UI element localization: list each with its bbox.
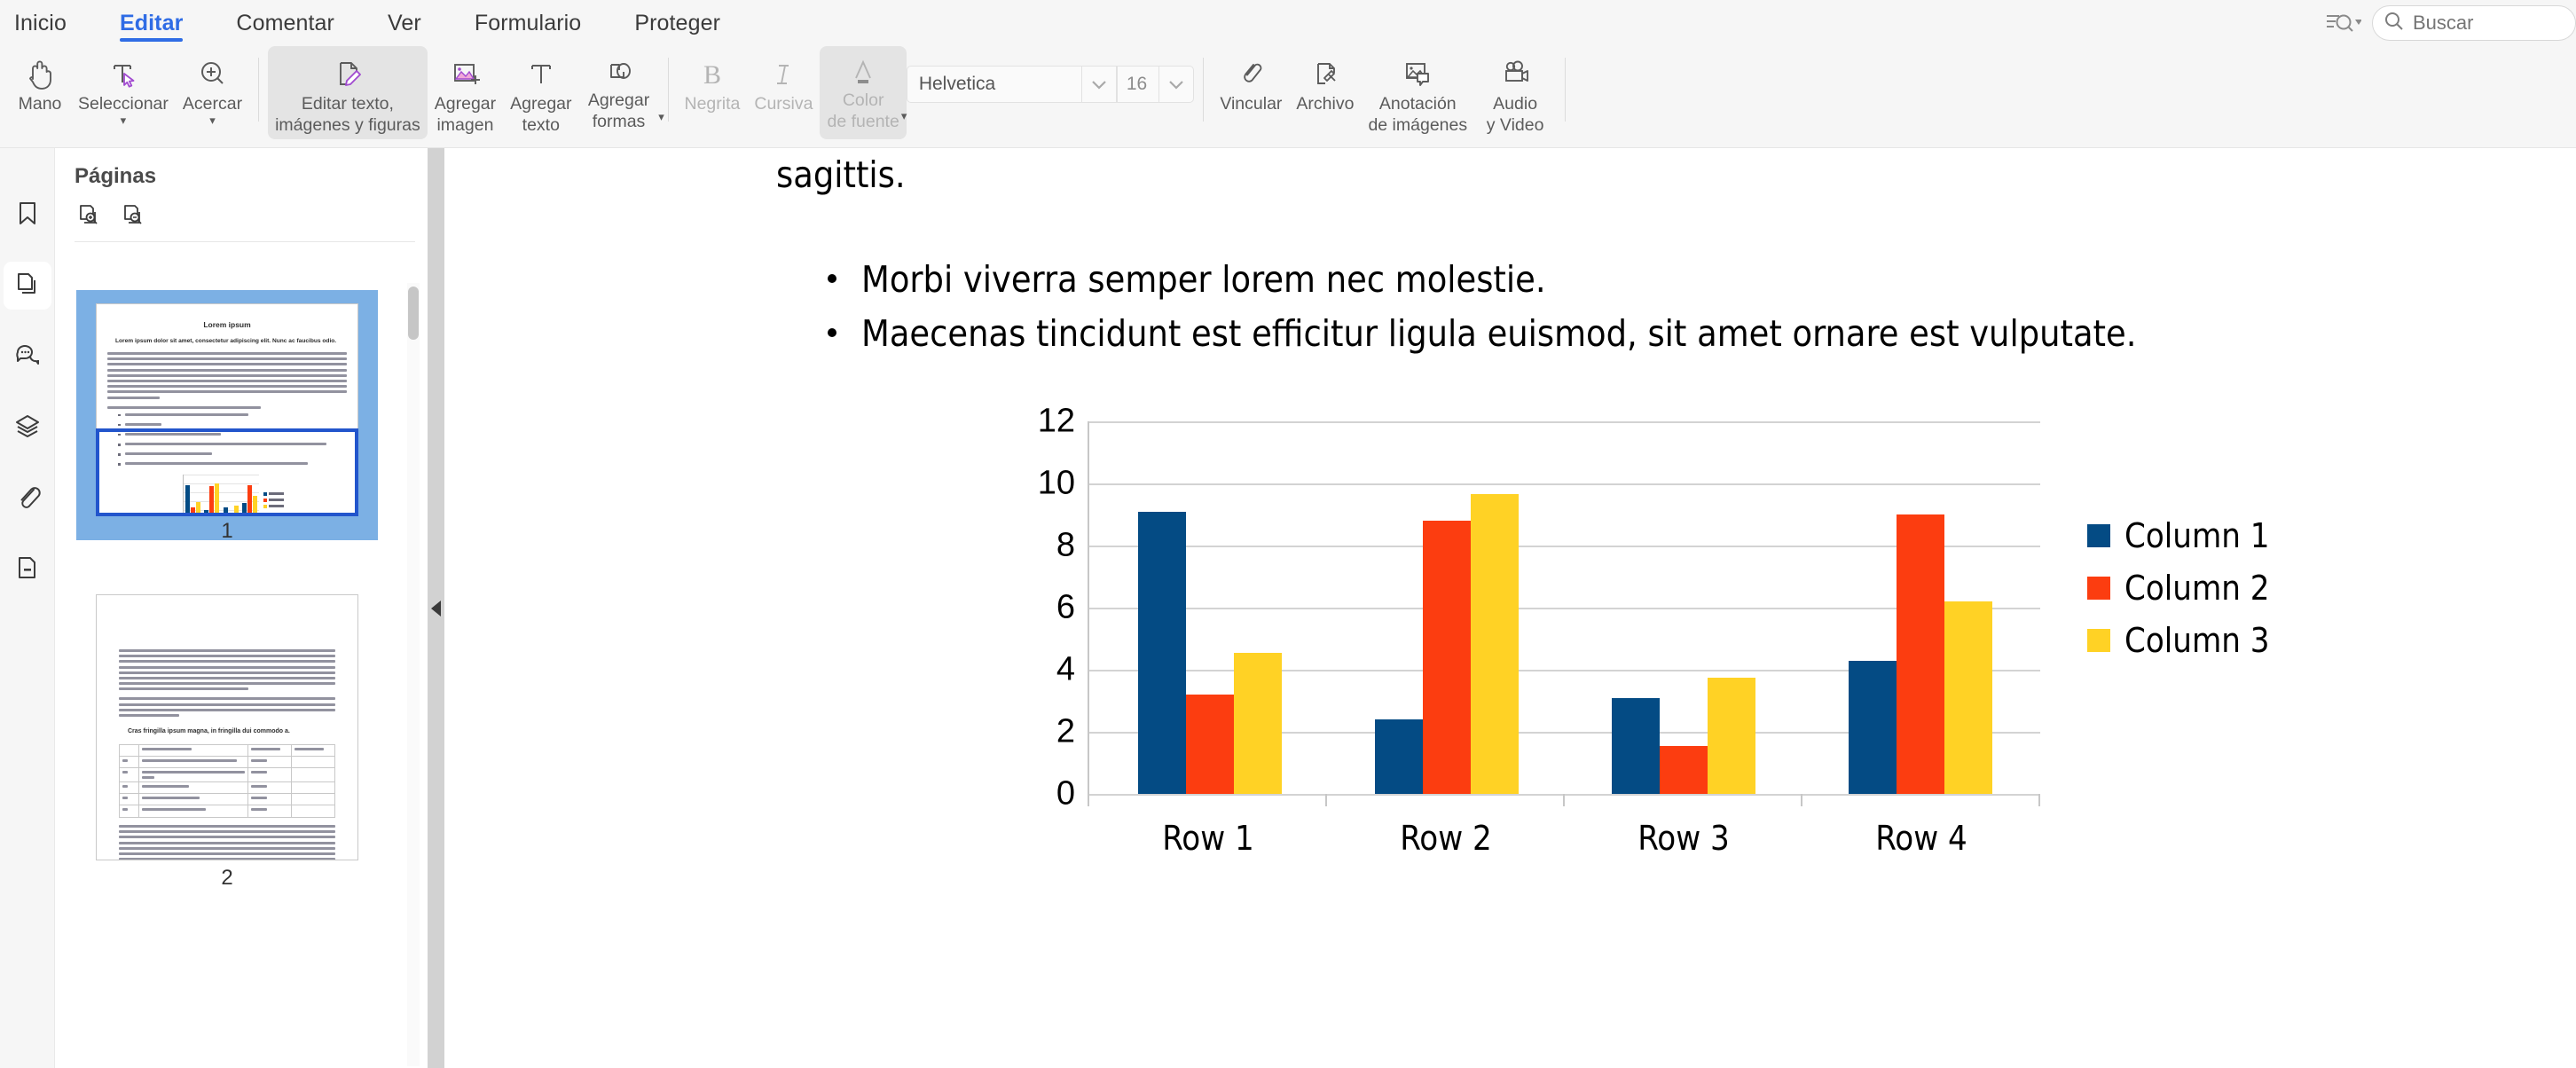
bar-row4-col3 bbox=[1944, 601, 1992, 794]
tab-formulario[interactable]: Formulario bbox=[469, 0, 586, 46]
tab-proteger[interactable]: Proteger bbox=[629, 0, 726, 46]
search-input[interactable] bbox=[2413, 12, 2564, 35]
tool-label: Agregar imagen bbox=[435, 93, 496, 136]
bar-row1-col2 bbox=[1186, 695, 1234, 794]
bar-row1-col3 bbox=[1234, 653, 1282, 794]
tab-label: Comentar bbox=[236, 11, 334, 36]
thumbnail-list: Lorem ipsum Lorem ipsum dolor sit amet, … bbox=[55, 279, 428, 1068]
tool-archivo[interactable]: Archivo bbox=[1289, 46, 1361, 139]
bar-row3-col3 bbox=[1708, 678, 1755, 794]
mini-chart bbox=[170, 475, 284, 516]
bullet-dot-icon bbox=[828, 274, 836, 283]
doc-bullet-item: Morbi viverra semper lorem nec molestie. bbox=[828, 258, 1546, 301]
tab-label: Ver bbox=[388, 11, 421, 36]
chart-y-tick: 2 bbox=[1022, 713, 1075, 751]
doc-bullet-item: Maecenas tincidunt est efficitur ligula … bbox=[828, 312, 2136, 355]
signature-icon bbox=[14, 554, 41, 585]
chart-x-tick: Row 4 bbox=[1802, 819, 2040, 858]
panel-title: Páginas bbox=[55, 148, 428, 189]
legend-item: Column 3 bbox=[2087, 621, 2270, 660]
legend-swatch-column-2 bbox=[2087, 577, 2110, 600]
tool-agregar-imagen[interactable]: Agregar imagen bbox=[428, 46, 503, 139]
bookmark-icon bbox=[14, 200, 41, 231]
chart-x-axis-ticks bbox=[1089, 794, 2040, 806]
mini-paragraph bbox=[119, 649, 335, 690]
mini-bullet bbox=[107, 462, 347, 467]
pages-thumbnail-panel: Páginas bbox=[55, 148, 428, 1068]
chart-bar-group bbox=[1091, 421, 1328, 794]
comments-icon bbox=[14, 342, 41, 373]
tool-label: Audio y Video bbox=[1487, 93, 1544, 136]
chart-y-tick: 6 bbox=[1022, 589, 1075, 627]
mini-heading: Cras fringilla ipsum magna, in fringilla… bbox=[119, 727, 335, 736]
tool-audio-video[interactable]: Audio y Video bbox=[1474, 46, 1556, 139]
font-size-value[interactable]: 16 bbox=[1118, 67, 1158, 102]
rail-item-bookmark[interactable] bbox=[4, 191, 51, 239]
file-attach-icon bbox=[1308, 54, 1343, 93]
chart-x-tick: Row 1 bbox=[1089, 819, 1327, 858]
top-tab-bar: Inicio Editar Comentar Ver Formulario Pr… bbox=[0, 0, 2576, 46]
ribbon-toolbar: Mano Seleccionar ▾ Acercar ▾ bbox=[0, 46, 2576, 148]
tab-ver[interactable]: Ver bbox=[382, 0, 427, 46]
legend-item: Column 1 bbox=[2087, 516, 2270, 555]
chevron-down-icon[interactable]: ▾ bbox=[901, 111, 907, 121]
bar-row1-col1 bbox=[1138, 512, 1186, 794]
ribbon-divider bbox=[1565, 58, 1566, 122]
chart-y-tick: 0 bbox=[1022, 775, 1075, 813]
rail-item-layers[interactable] bbox=[4, 404, 51, 452]
thumbnail-page-surface: Lorem ipsum Lorem ipsum dolor sit amet, … bbox=[96, 303, 358, 516]
bullet-dot-icon bbox=[828, 328, 836, 337]
font-size-dropdown-icon[interactable] bbox=[1159, 67, 1193, 102]
tool-label: Agregar texto bbox=[510, 93, 571, 136]
audio-video-icon bbox=[1497, 54, 1533, 93]
font-name-dropdown-icon[interactable] bbox=[1082, 67, 1116, 102]
tool-cursiva[interactable]: Cursiva bbox=[747, 46, 820, 139]
doc-bullet-text: Maecenas tincidunt est efficitur ligula … bbox=[861, 312, 2136, 355]
thumbnail-page-number: 2 bbox=[76, 866, 378, 891]
document-view[interactable]: sagittis. Morbi viverra semper lorem nec… bbox=[444, 148, 2576, 1068]
chart-legend: Column 1 Column 2 Column 3 bbox=[2087, 516, 2270, 660]
tool-label: Cursiva bbox=[754, 93, 813, 114]
tab-comentar[interactable]: Comentar bbox=[231, 0, 340, 46]
add-text-icon bbox=[523, 54, 559, 93]
tool-label: Color de fuente bbox=[827, 90, 899, 132]
thumbnail-page-number: 1 bbox=[76, 519, 378, 544]
tool-agregar-texto[interactable]: Agregar texto bbox=[503, 46, 578, 139]
image-annotation-icon bbox=[1400, 54, 1435, 93]
legend-label: Column 2 bbox=[2124, 569, 2270, 608]
tool-label: Vincular bbox=[1220, 93, 1282, 114]
mini-bullet bbox=[107, 443, 347, 448]
pages-icon bbox=[14, 271, 41, 302]
thumbnail-tools bbox=[55, 189, 428, 241]
mini-title: Lorem ipsum bbox=[107, 320, 347, 329]
chart-bar-group bbox=[1328, 421, 1565, 794]
thumbnail-page-surface: Cras fringilla ipsum magna, in fringilla… bbox=[96, 594, 358, 860]
rail-item-pages[interactable] bbox=[4, 262, 51, 310]
doc-text-fragment: sagittis. bbox=[776, 153, 906, 196]
search-box[interactable] bbox=[2372, 5, 2576, 41]
chart-bar-group bbox=[1565, 421, 1802, 794]
chevron-down-icon[interactable]: ▾ bbox=[121, 115, 127, 125]
add-shapes-icon bbox=[601, 54, 637, 90]
bar-row4-col1 bbox=[1849, 661, 1897, 794]
mini-lead: Lorem ipsum dolor sit amet, consectetur … bbox=[107, 337, 347, 345]
tool-label: Negrita bbox=[685, 93, 741, 114]
attachment-icon bbox=[14, 483, 41, 514]
mini-paragraph bbox=[119, 825, 335, 860]
tool-label: Seleccionar bbox=[78, 93, 169, 114]
bar-row3-col1 bbox=[1612, 698, 1660, 794]
tool-label: Archivo bbox=[1296, 93, 1354, 114]
bar-row3-col2 bbox=[1660, 746, 1708, 794]
mini-bullet bbox=[107, 433, 347, 438]
mini-chart-legend bbox=[263, 492, 284, 508]
legend-swatch-column-1 bbox=[2087, 524, 2110, 547]
mini-bullet bbox=[107, 423, 347, 428]
mini-paragraph bbox=[119, 697, 335, 717]
add-image-icon bbox=[447, 54, 483, 93]
doc-bullet-text: Morbi viverra semper lorem nec molestie. bbox=[861, 258, 1546, 301]
chart-x-labels: Row 1 Row 2 Row 3 Row 4 bbox=[1089, 819, 2040, 858]
chart-y-tick: 8 bbox=[1022, 527, 1075, 565]
chart-bar-group bbox=[1802, 421, 2038, 794]
mini-chart-bars bbox=[184, 475, 259, 516]
chart-x-tick: Row 2 bbox=[1327, 819, 1565, 858]
italic-icon bbox=[766, 54, 801, 93]
hand-icon bbox=[22, 54, 58, 93]
tool-editar-contenido[interactable]: Editar texto, imágenes y figuras bbox=[268, 46, 428, 139]
zoom-in-icon bbox=[194, 54, 230, 93]
font-color-icon bbox=[845, 54, 881, 90]
bold-icon: B bbox=[695, 54, 730, 93]
thumbnail-page-2[interactable]: Cras fringilla ipsum magna, in fringilla… bbox=[55, 594, 428, 887]
tool-acercar[interactable]: Acercar ▾ bbox=[176, 46, 249, 139]
tool-anotacion-imagenes[interactable]: Anotación de imágenes bbox=[1361, 46, 1474, 139]
layers-icon bbox=[14, 412, 41, 444]
tool-label: Acercar bbox=[183, 93, 242, 114]
tab-inicio[interactable]: Inicio bbox=[9, 0, 72, 46]
chevron-down-icon[interactable]: ▾ bbox=[209, 115, 216, 125]
document-bar-chart[interactable]: 12 10 8 6 4 2 0 bbox=[983, 405, 2402, 822]
panel-divider bbox=[75, 241, 415, 242]
tool-agregar-formas[interactable]: Agregar formas ▾ bbox=[579, 46, 659, 139]
bar-row2-col1 bbox=[1375, 719, 1423, 794]
legend-label: Column 3 bbox=[2124, 621, 2270, 660]
tab-label: Formulario bbox=[475, 11, 581, 36]
tool-negrita[interactable]: B Negrita bbox=[678, 46, 748, 139]
font-controls: Helvetica 16 bbox=[907, 66, 1195, 103]
chart-bars bbox=[1091, 421, 2038, 794]
font-name-value[interactable]: Helvetica bbox=[907, 67, 1081, 102]
search-icon bbox=[2384, 11, 2405, 36]
advanced-search-icon[interactable] bbox=[2324, 9, 2361, 37]
thumbnail-scrollbar-thumb[interactable] bbox=[408, 287, 419, 340]
tab-label: Proteger bbox=[634, 11, 720, 36]
tool-label: Anotación de imágenes bbox=[1368, 93, 1467, 136]
mini-paragraph bbox=[107, 352, 347, 399]
rail-item-comments[interactable] bbox=[4, 333, 51, 381]
link-icon bbox=[1233, 54, 1268, 93]
legend-label: Column 1 bbox=[2124, 516, 2270, 555]
bar-row4-col2 bbox=[1897, 514, 1944, 794]
left-icon-rail bbox=[0, 148, 55, 1068]
legend-item: Column 2 bbox=[2087, 569, 2270, 608]
legend-swatch-column-3 bbox=[2087, 629, 2110, 652]
mini-table bbox=[119, 744, 335, 818]
rail-item-signature[interactable] bbox=[4, 546, 51, 593]
tool-seleccionar[interactable]: Seleccionar ▾ bbox=[71, 46, 176, 139]
tool-label: Agregar formas bbox=[588, 90, 649, 132]
ribbon-divider bbox=[1203, 58, 1204, 122]
thumbnail-scrollbar[interactable] bbox=[407, 283, 420, 1066]
search-area bbox=[2324, 0, 2576, 46]
mini-chart-plot bbox=[183, 475, 259, 516]
chart-x-tick: Row 3 bbox=[1565, 819, 1802, 858]
svg-text:B: B bbox=[703, 60, 721, 90]
rail-item-attachments[interactable] bbox=[4, 475, 51, 522]
mini-bullet bbox=[107, 452, 347, 458]
tab-editar[interactable]: Editar bbox=[114, 0, 188, 46]
thumbnail-zoom-out-icon[interactable] bbox=[122, 203, 147, 232]
chart-plot-area: 12 10 8 6 4 2 0 bbox=[1088, 421, 2038, 794]
tool-label: Editar texto, imágenes y figuras bbox=[275, 93, 420, 136]
tool-label: Mano bbox=[19, 93, 62, 114]
tab-underline bbox=[120, 38, 183, 42]
chart-y-tick: 12 bbox=[1022, 403, 1075, 441]
mini-paragraph bbox=[107, 406, 347, 409]
chevron-down-icon[interactable]: ▾ bbox=[658, 112, 664, 122]
chart-y-tick: 10 bbox=[1022, 465, 1075, 503]
tab-label: Inicio bbox=[14, 11, 67, 36]
tab-label: Editar bbox=[120, 11, 183, 36]
tool-mano[interactable]: Mano bbox=[9, 46, 71, 139]
edit-content-icon bbox=[330, 54, 365, 93]
chart-y-tick: 4 bbox=[1022, 651, 1075, 689]
select-text-icon bbox=[106, 54, 141, 93]
tool-color-fuente[interactable]: Color de fuente ▾ bbox=[820, 46, 906, 139]
ribbon-divider bbox=[668, 58, 669, 122]
mini-bullet bbox=[107, 413, 347, 419]
panel-splitter[interactable] bbox=[428, 148, 444, 1068]
collapse-panel-arrow-icon[interactable] bbox=[431, 601, 441, 616]
bar-row2-col2 bbox=[1423, 521, 1471, 794]
thumbnail-page-1[interactable]: Lorem ipsum Lorem ipsum dolor sit amet, … bbox=[55, 290, 428, 583]
bar-row2-col3 bbox=[1471, 494, 1519, 794]
thumbnail-zoom-in-icon[interactable] bbox=[78, 203, 103, 232]
ribbon-divider bbox=[258, 58, 259, 122]
tool-vincular[interactable]: Vincular bbox=[1213, 46, 1289, 139]
